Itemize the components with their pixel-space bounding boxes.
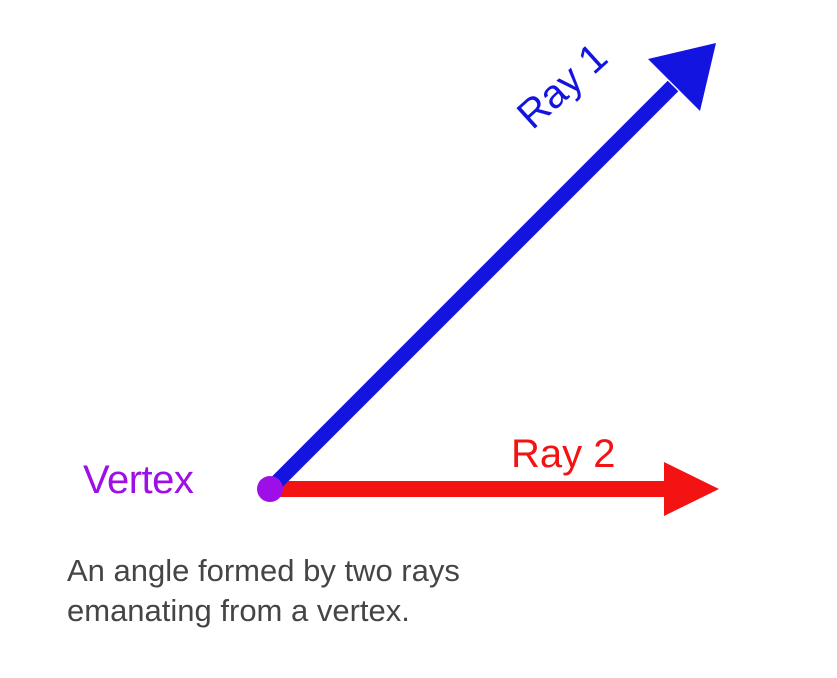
caption-line-1: An angle formed by two rays — [67, 551, 767, 591]
ray-1-graphic — [270, 43, 716, 489]
ray-2-graphic — [268, 462, 719, 516]
angle-diagram: Vertex Ray 2 Ray 1 An angle formed by tw… — [0, 0, 837, 678]
vertex-dot — [257, 476, 283, 502]
figure-caption: An angle formed by two rays emanating fr… — [67, 551, 767, 630]
caption-line-2: emanating from a vertex. — [67, 591, 767, 631]
ray-1-shaft — [270, 86, 673, 489]
vertex-label: Vertex — [83, 460, 193, 500]
ray-2-label: Ray 2 — [511, 434, 616, 474]
ray-2-arrowhead — [664, 462, 719, 516]
